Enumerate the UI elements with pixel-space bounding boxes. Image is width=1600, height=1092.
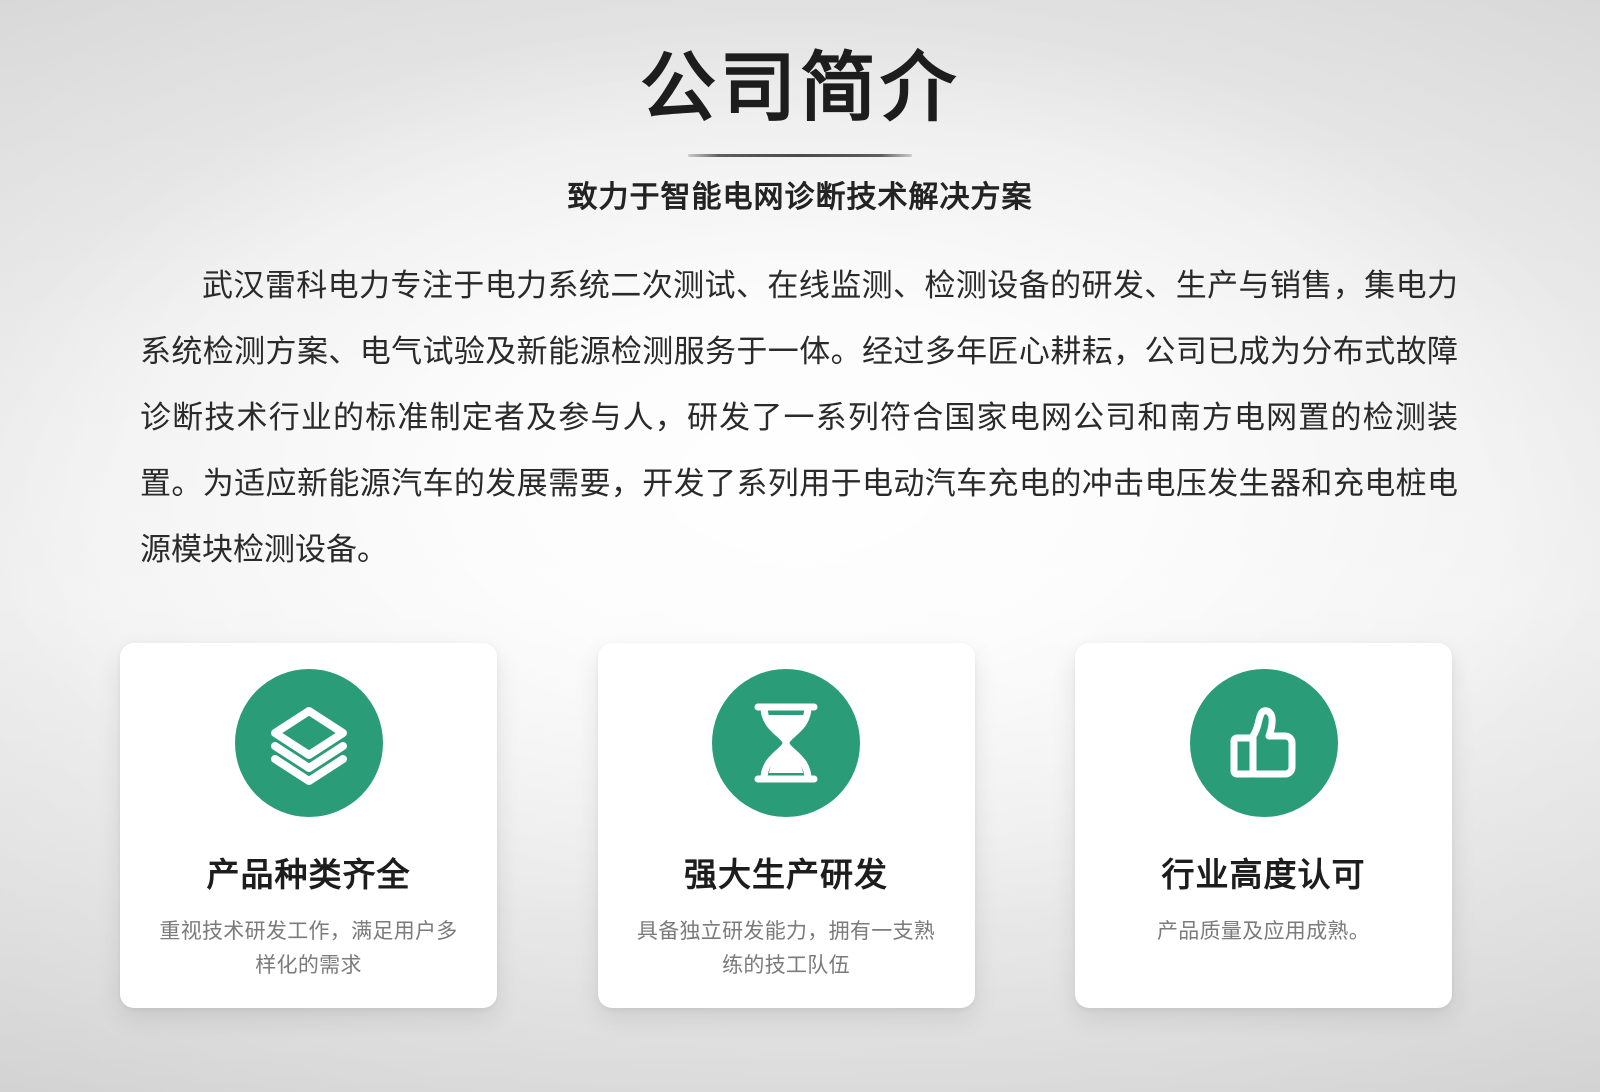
feature-card-title: 产品种类齐全 bbox=[207, 855, 411, 895]
title-divider bbox=[688, 154, 912, 157]
feature-card-title: 强大生产研发 bbox=[684, 855, 888, 895]
icon-badge bbox=[712, 669, 860, 817]
feature-card[interactable]: 强大生产研发 具备独立研发能力，拥有一支熟练的技工队伍 bbox=[598, 643, 975, 1008]
layers-icon bbox=[267, 701, 351, 785]
feature-card-description: 具备独立研发能力，拥有一支熟练的技工队伍 bbox=[631, 915, 941, 983]
hourglass-icon bbox=[746, 701, 826, 785]
icon-badge bbox=[235, 669, 383, 817]
thumbs-up-icon bbox=[1223, 702, 1305, 784]
page-subtitle: 致力于智能电网诊断技术解决方案 bbox=[0, 178, 1600, 218]
feature-card[interactable]: 产品种类齐全 重视技术研发工作，满足用户多样化的需求 bbox=[120, 643, 497, 1008]
company-intro-paragraph: 武汉雷科电力专注于电力系统二次测试、在线监测、检测设备的研发、生产与销售，集电力… bbox=[140, 253, 1458, 583]
feature-card-description: 重视技术研发工作，满足用户多样化的需求 bbox=[154, 915, 464, 983]
title-divider-wrapper bbox=[0, 154, 1600, 158]
page-title: 公司简介 bbox=[0, 46, 1600, 132]
feature-card[interactable]: 行业高度认可 产品质量及应用成熟。 bbox=[1075, 643, 1452, 1008]
feature-card-list: 产品种类齐全 重视技术研发工作，满足用户多样化的需求 bbox=[120, 643, 1452, 1008]
company-profile-page: 公司简介 致力于智能电网诊断技术解决方案 武汉雷科电力专注于电力系统二次测试、在… bbox=[0, 0, 1600, 1092]
icon-badge bbox=[1190, 669, 1338, 817]
page-header: 公司简介 致力于智能电网诊断技术解决方案 bbox=[0, 0, 1600, 218]
feature-card-title: 行业高度认可 bbox=[1162, 855, 1366, 895]
feature-card-description: 产品质量及应用成熟。 bbox=[1109, 915, 1419, 949]
